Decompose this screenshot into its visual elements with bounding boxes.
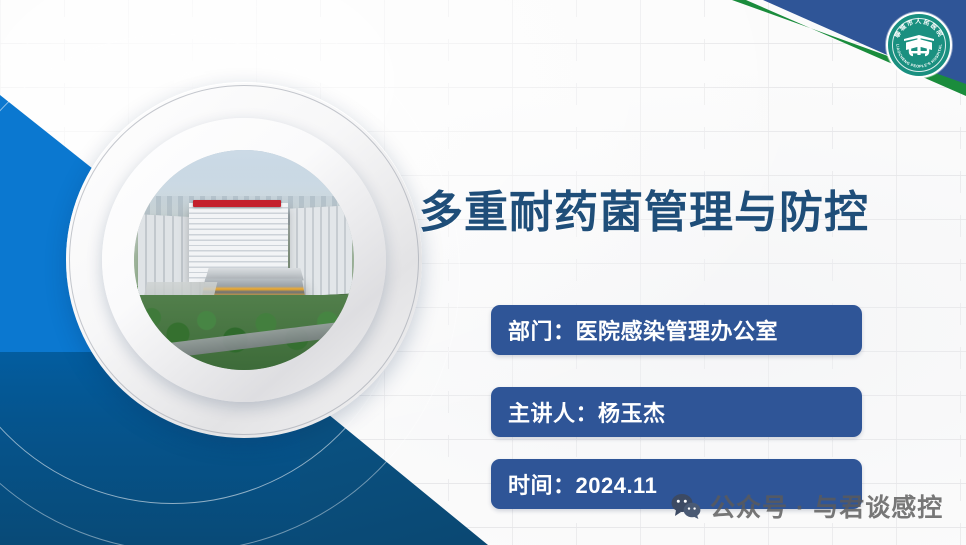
presentation-slide: 聊城市人民医院 LIAOCHENG PEOPLE'S HOSPITAL 多重耐药… [0, 0, 966, 545]
logo-book-emblem [901, 30, 937, 60]
page-title: 多重耐药菌管理与防控 [419, 176, 869, 240]
info-box-presenter: 主讲人：杨玉杰 [491, 387, 862, 437]
photo-ring-inner [102, 118, 386, 402]
hospital-aerial-photo [134, 150, 354, 370]
info-label-date: 时间：2024.11 [491, 468, 657, 500]
info-box-date: 时间：2024.11 [491, 459, 862, 509]
info-label-department: 部门：医院感染管理办公室 [491, 314, 778, 346]
info-label-presenter: 主讲人：杨玉杰 [491, 396, 666, 428]
info-box-department: 部门：医院感染管理办公室 [491, 305, 862, 355]
circular-photo-frame [66, 82, 422, 438]
photo-hospital-rooftop-sign [193, 200, 281, 207]
liaocheng-peoples-hospital-logo: 聊城市人民医院 LIAOCHENG PEOPLE'S HOSPITAL [886, 12, 952, 78]
